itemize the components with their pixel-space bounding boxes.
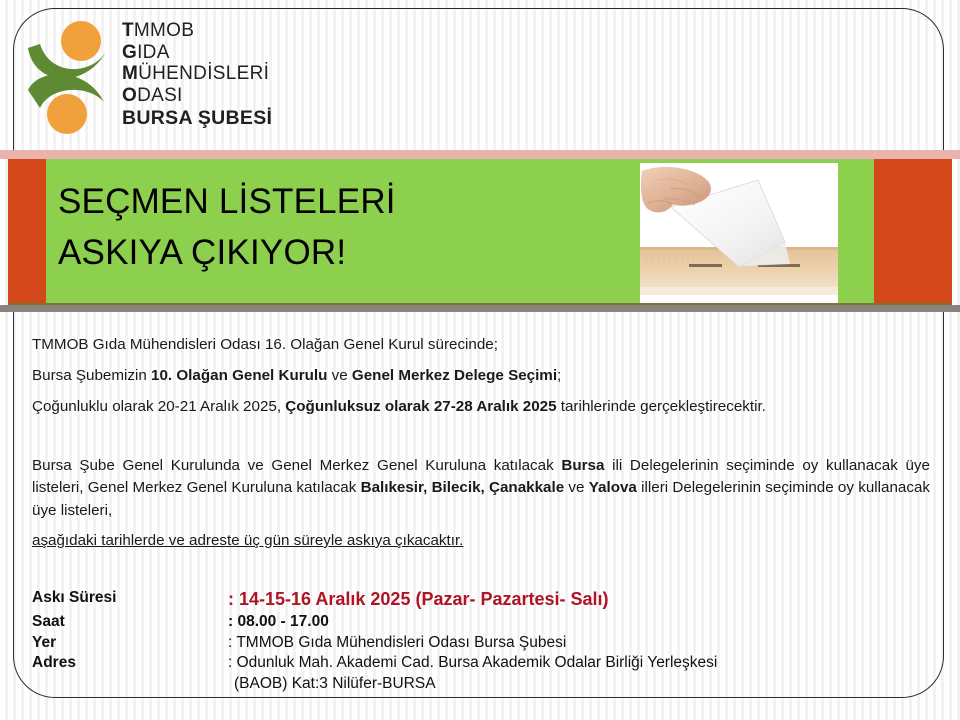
logo-line-bursa-subesi: BURSA ŞUBESİ: [122, 107, 312, 129]
intro-paragraphs: TMMOB Gıda Mühendisleri Odası 16. Olağan…: [32, 337, 932, 431]
tmmob-gida-muhendisleri-odasi-logo-icon: [24, 18, 124, 136]
details-label-saat: Saat: [32, 612, 228, 633]
logo-wordmark: TMMOB GIDA MÜHENDİSLERİ ODASI BURSA ŞUBE…: [122, 20, 312, 129]
intro-paragraph-3: Çoğunluklu olarak 20-21 Aralık 2025, Çoğ…: [32, 399, 932, 414]
organization-logo: TMMOB GIDA MÜHENDİSLERİ ODASI BURSA ŞUBE…: [18, 12, 308, 142]
banner-right-orange-bar: [874, 159, 952, 303]
poster-slide: TMMOB GIDA MÜHENDİSLERİ ODASI BURSA ŞUBE…: [0, 0, 960, 720]
table-row: Askı Süresi : 14-15-16 Aralık 2025 (Paza…: [32, 588, 717, 612]
details-label-spacer: [32, 674, 228, 695]
logo-line-odasi: ODASI: [122, 85, 312, 107]
details-value-saat: : 08.00 - 17.00: [228, 612, 717, 633]
details-value-yer: : TMMOB Gıda Mühendisleri Odası Bursa Şu…: [228, 633, 717, 654]
details-label-yer: Yer: [32, 633, 228, 654]
page-title-line-1: SEÇMEN LİSTELERİ: [58, 176, 618, 227]
details-block: Askı Süresi : 14-15-16 Aralık 2025 (Paza…: [32, 588, 932, 694]
page-title-line-2: ASKIYA ÇIKIYOR!: [58, 227, 618, 278]
details-value-adres: : Odunluk Mah. Akademi Cad. Bursa Akadem…: [228, 653, 717, 674]
details-label-aski-suresi: Askı Süresi: [32, 588, 228, 612]
page-title: SEÇMEN LİSTELERİ ASKIYA ÇIKIYOR!: [58, 176, 618, 278]
details-label-adres: Adres: [32, 653, 228, 674]
logo-line-muhendisleri: MÜHENDİSLERİ: [122, 63, 312, 85]
table-row: (BAOB) Kat:3 Nilüfer-BURSA: [32, 674, 717, 695]
ballot-box-voting-photo: [640, 163, 838, 303]
banner-left-orange-bar: [8, 159, 46, 303]
underlined-statement: aşağıdaki tarihlerde ve adreste üç gün s…: [32, 532, 632, 549]
table-row: Yer : TMMOB Gıda Mühendisleri Odası Burs…: [32, 633, 717, 654]
body-paragraph: Bursa Şube Genel Kurulunda ve Genel Merk…: [32, 455, 930, 522]
logo-line-gida: GIDA: [122, 42, 312, 64]
details-table: Askı Süresi : 14-15-16 Aralık 2025 (Paza…: [32, 588, 717, 694]
headline-banner: SEÇMEN LİSTELERİ ASKIYA ÇIKIYOR!: [0, 150, 960, 312]
table-row: Adres : Odunluk Mah. Akademi Cad. Bursa …: [32, 653, 717, 674]
details-value-adres-continuation: (BAOB) Kat:3 Nilüfer-BURSA: [228, 674, 717, 695]
banner-top-strip: [0, 150, 960, 159]
intro-paragraph-2: Bursa Şubemizin 10. Olağan Genel Kurulu …: [32, 368, 932, 383]
table-row: Saat : 08.00 - 17.00: [32, 612, 717, 633]
intro-paragraph-1: TMMOB Gıda Mühendisleri Odası 16. Olağan…: [32, 337, 932, 352]
banner-bottom-strip: [0, 305, 960, 312]
logo-line-tmmob: TMMOB: [122, 20, 312, 42]
details-value-aski-suresi: : 14-15-16 Aralık 2025 (Pazar- Pazartesi…: [228, 588, 717, 612]
